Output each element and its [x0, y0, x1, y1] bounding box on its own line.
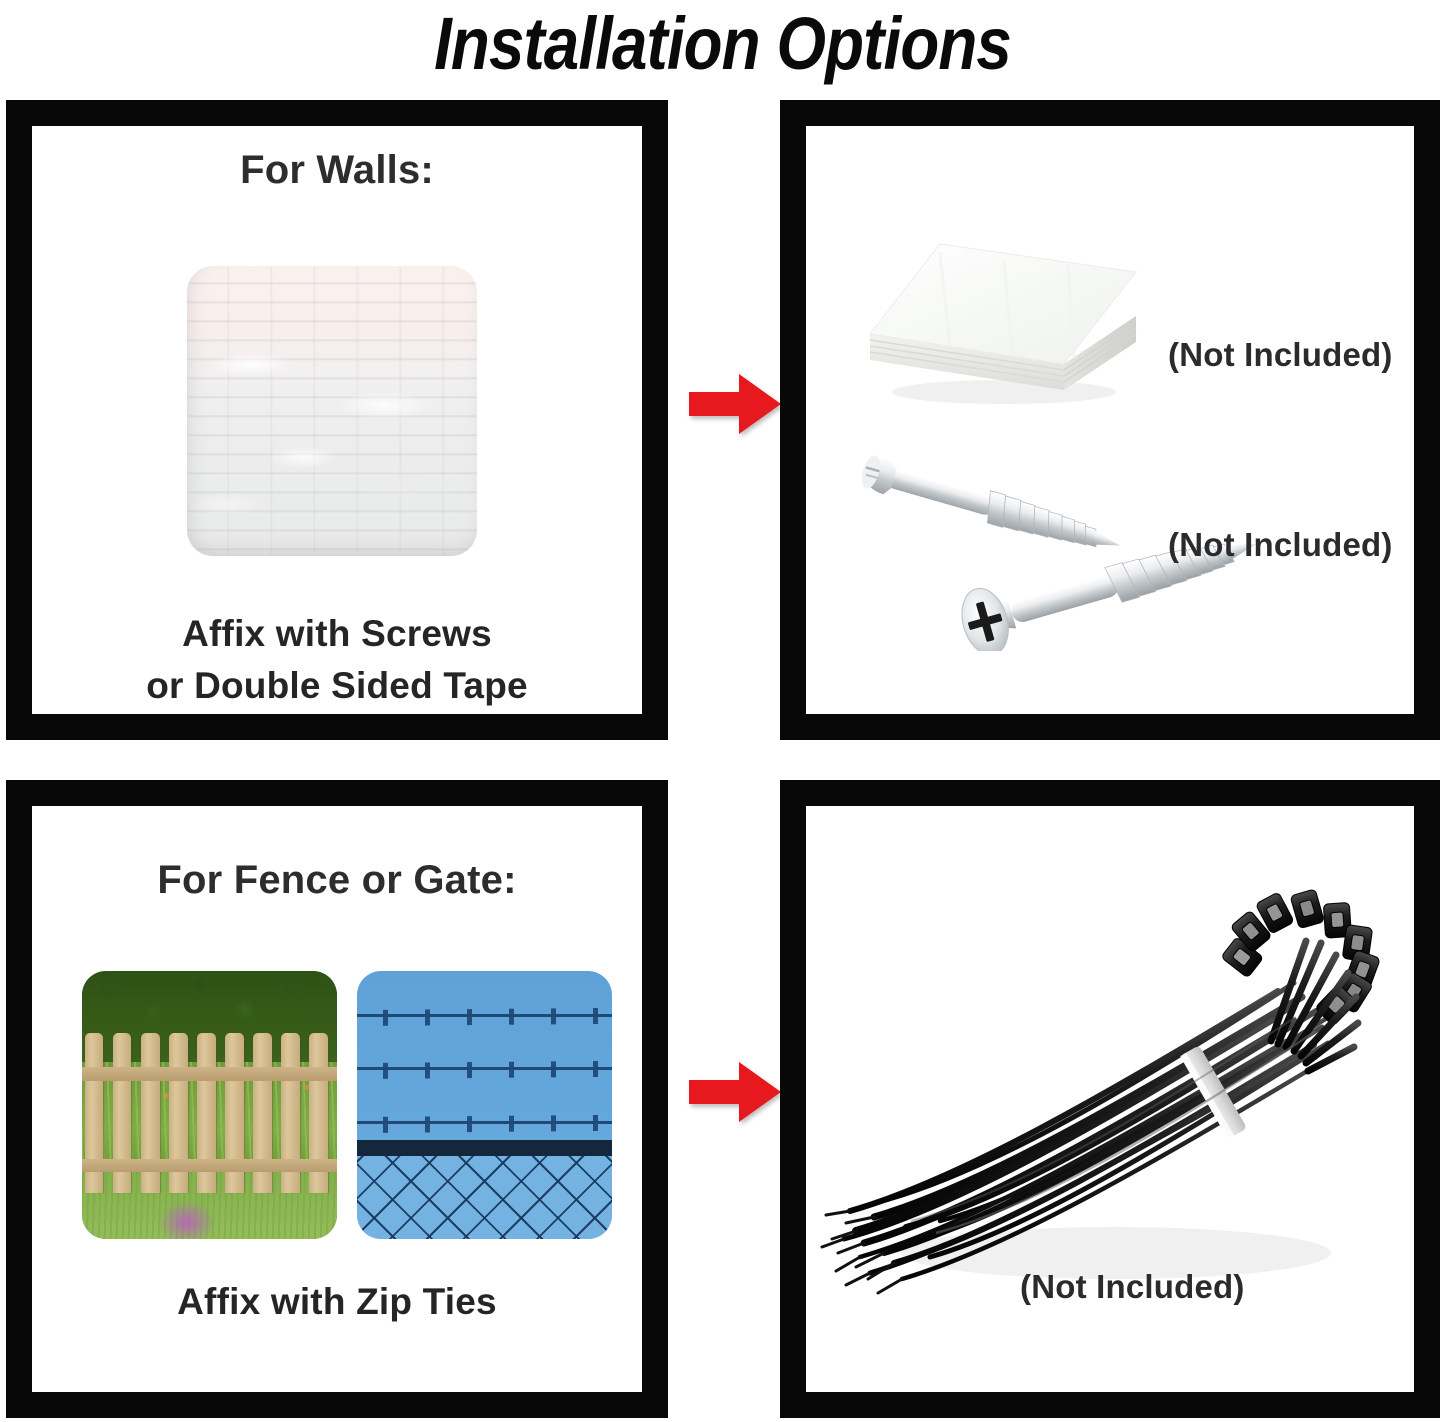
- page-title: Installation Options: [101, 0, 1344, 90]
- panel-for-walls: For Walls: Affix with Screws or Double S…: [6, 100, 668, 740]
- arrow-right-icon-bottom: [687, 1058, 783, 1126]
- fence-caption: Affix with Zip Ties: [32, 1276, 642, 1328]
- zip-ties-not-included-label: (Not Included): [1020, 1268, 1245, 1306]
- chain-link-barbed-wire-fence-photo: [357, 971, 612, 1239]
- walls-caption-line-2: or Double Sided Tape: [32, 660, 642, 712]
- panel-wall-hardware: (Not Included): [780, 100, 1440, 740]
- arrow-right-icon-top: [687, 370, 783, 438]
- for-fence-or-gate-heading: For Fence or Gate:: [32, 858, 642, 903]
- tape-not-included-label: (Not Included): [1168, 336, 1393, 374]
- black-zip-ties-bundle: [816, 881, 1414, 1301]
- double-sided-tape-stack: [854, 234, 1144, 414]
- panel-zip-ties: (Not Included): [780, 780, 1440, 1418]
- screws-not-included-label: (Not Included): [1168, 526, 1393, 564]
- walls-caption-line-1: Affix with Screws: [32, 608, 642, 660]
- white-brick-wall-swatch: [187, 266, 477, 556]
- for-walls-heading: For Walls:: [32, 148, 642, 193]
- wooden-picket-fence-photo: [82, 971, 337, 1239]
- panel-for-fence-or-gate: For Fence or Gate:: [6, 780, 668, 1418]
- installation-options-infographic: Installation Options For Walls: Affix wi…: [0, 0, 1445, 1422]
